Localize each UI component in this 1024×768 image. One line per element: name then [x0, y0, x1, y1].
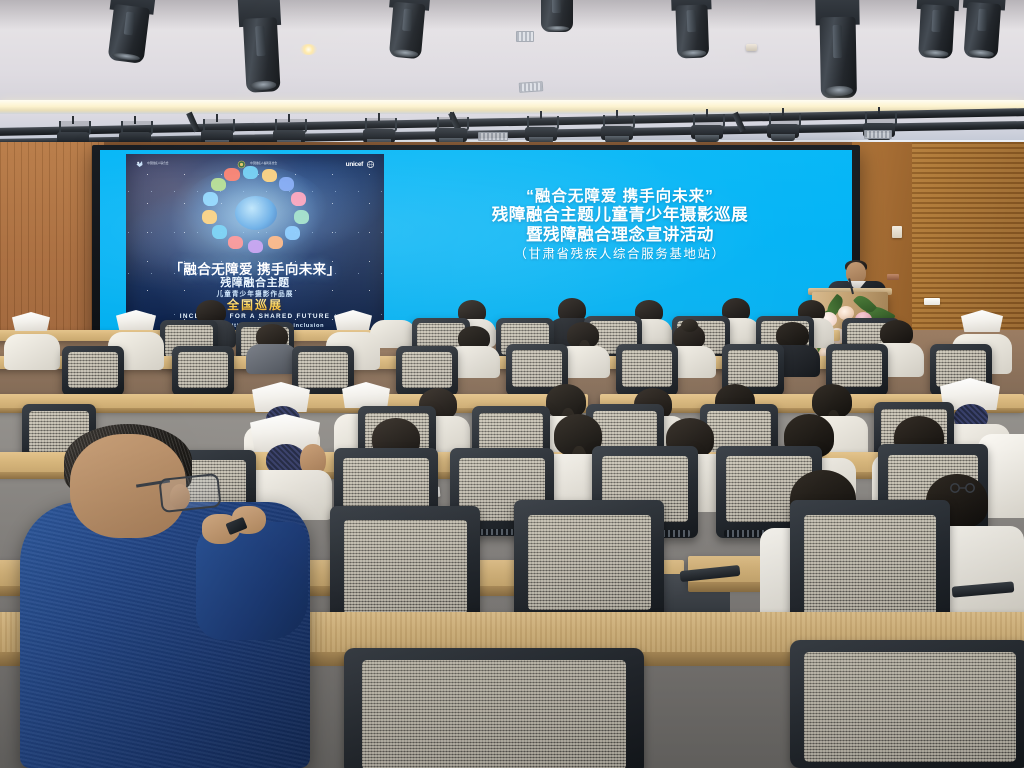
nurse-cap — [334, 310, 372, 330]
wall-outlet — [887, 274, 899, 280]
cdpf-logo: 中国残疾人联合会 — [134, 160, 169, 169]
poster-child-figure — [285, 226, 300, 240]
moving-head-light — [538, 0, 576, 32]
wall-plate — [892, 226, 902, 238]
poster-child-figure — [224, 168, 240, 181]
unicef-logo: unicef — [346, 160, 376, 169]
nurse-cap — [12, 312, 50, 331]
poster-globe-center — [235, 196, 277, 230]
unicef-globe-icon — [365, 160, 376, 169]
stage-par-light — [524, 111, 558, 141]
moving-head-light — [237, 0, 284, 93]
chair[interactable] — [62, 346, 124, 396]
cdpf-logo-text: 中国残疾人联合会 — [147, 162, 169, 165]
paper-on-desk — [924, 298, 940, 305]
glasses-lens — [158, 473, 221, 513]
stage-par-light — [200, 114, 234, 144]
poster-child-figure — [202, 210, 217, 224]
screen-title-line-1: “融合无障爱 携手向未来” — [400, 188, 840, 206]
poster-child-figure — [211, 178, 226, 191]
screen-title-block: “融合无障爱 携手向未来” 残障融合主题儿童青少年摄影巡展 暨残障融合理念宣讲活… — [400, 188, 840, 264]
stage-par-light — [600, 110, 634, 140]
audience-person-nurse — [4, 312, 60, 368]
moving-head-light — [914, 0, 960, 59]
poster-child-figure — [243, 166, 258, 179]
nurse-cap — [961, 310, 1003, 332]
person-torso — [246, 344, 298, 374]
ceiling-vent — [864, 130, 892, 139]
stage-par-light — [766, 108, 800, 138]
poster-child-figure — [279, 177, 294, 191]
ceiling-sensor — [746, 44, 757, 51]
stage-par-light — [690, 109, 724, 139]
poster-child-figure — [248, 240, 263, 253]
foreground-man-in-blue — [20, 418, 320, 768]
eyeglasses-on-desk — [948, 480, 978, 490]
person-hair-bun — [681, 319, 698, 332]
moving-head-light — [959, 0, 1006, 59]
poster-globe-graphic — [180, 166, 330, 258]
poster-child-figure — [262, 169, 277, 182]
screen-title-line-3: 暨残障融合理念宣讲活动 — [400, 226, 840, 245]
poster-child-figure — [294, 210, 309, 224]
unicef-wordmark: unicef — [346, 161, 363, 168]
moving-head-light — [385, 0, 431, 60]
person-torso — [4, 334, 60, 370]
ceiling-vent — [478, 132, 508, 141]
recessed-downlight — [300, 44, 317, 55]
chair-foreground-right[interactable] — [790, 640, 1024, 768]
poster-child-figure — [268, 236, 283, 249]
screen-title-line-2: 残障融合主题儿童青少年摄影巡展 — [400, 206, 840, 225]
nurse-cap — [116, 310, 156, 330]
ceiling-vent — [519, 81, 544, 93]
poster-child-figure — [203, 192, 218, 206]
chair-foreground[interactable] — [344, 648, 644, 768]
cdpf-logo-icon — [134, 160, 145, 169]
poster-child-figure — [228, 236, 243, 249]
moving-head-light — [815, 0, 861, 98]
chair[interactable] — [172, 346, 234, 396]
nurse-cap — [342, 382, 390, 408]
stage-par-light — [434, 112, 468, 142]
audience-person — [246, 324, 298, 370]
poster-child-figure — [291, 192, 306, 206]
conference-hall-photo: 中国残疾人联合会 中国残疾人福利基金会 unicef — [0, 0, 1024, 768]
ceiling-vent — [516, 31, 534, 42]
screen-title-line-4: （甘肃省残疾人综合服务基地站） — [400, 245, 840, 264]
stage-par-light — [362, 113, 396, 143]
poster-child-figure — [212, 225, 227, 239]
moving-head-light — [671, 0, 713, 59]
stage-par-light — [272, 114, 306, 144]
